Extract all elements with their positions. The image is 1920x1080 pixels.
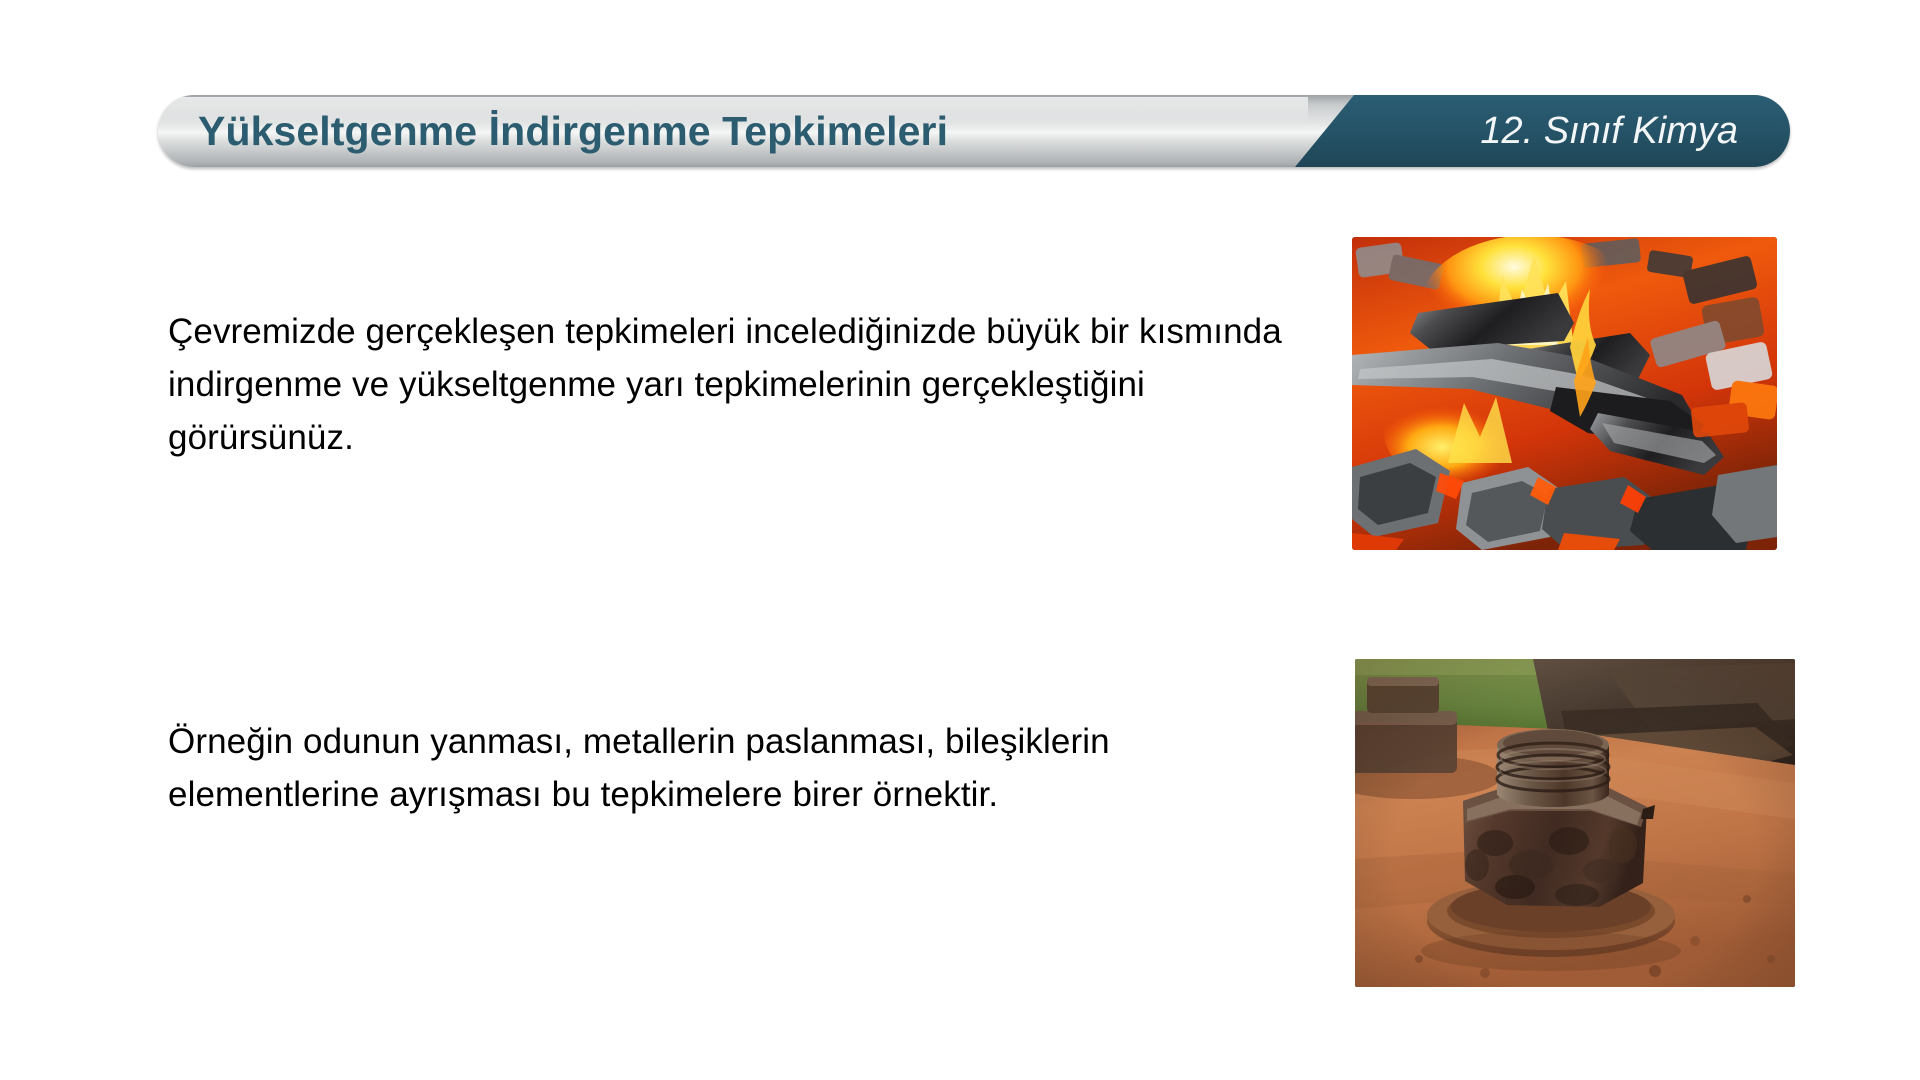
burning-wood-illustration <box>1352 237 1777 550</box>
header-banner: Yükseltgenme İndirgenme Tepkimeleri 12. … <box>158 95 1790 167</box>
paragraph-examples: Örneğin odunun yanması, metallerin pasla… <box>168 715 1288 821</box>
course-label: 12. Sınıf Kimya <box>1480 95 1738 167</box>
burning-wood-photo <box>1352 237 1777 550</box>
page-title: Yükseltgenme İndirgenme Tepkimeleri <box>198 95 948 167</box>
paragraph-intro: Çevremizde gerçekleşen tepkimeleri incel… <box>168 305 1288 464</box>
rusty-bolt-photo <box>1355 659 1795 987</box>
rusty-bolt-illustration <box>1355 659 1795 987</box>
slide-canvas: Yükseltgenme İndirgenme Tepkimeleri 12. … <box>0 0 1920 1080</box>
